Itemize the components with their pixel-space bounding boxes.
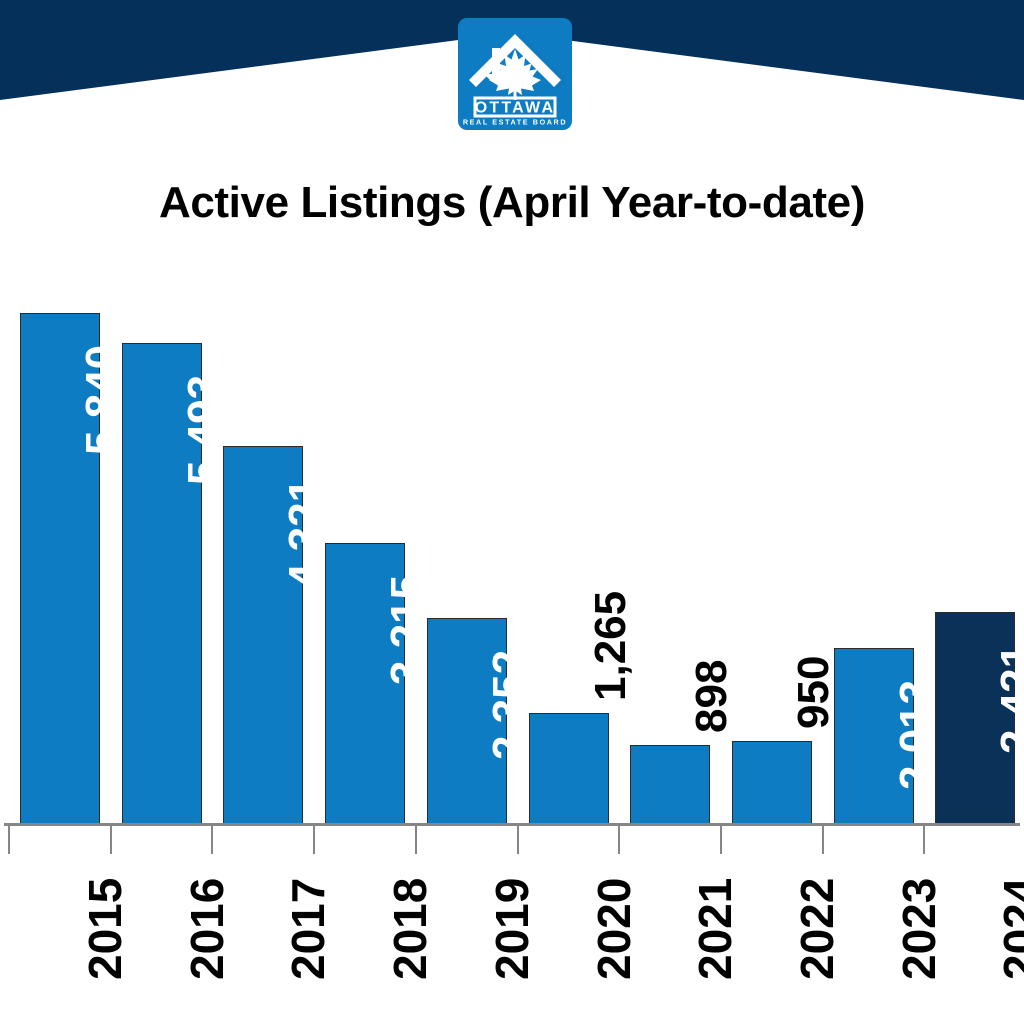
x-axis-label-2016: 2016: [180, 878, 234, 980]
x-axis-label-2024: 2024: [993, 878, 1024, 980]
bar-value-2017: 4,321: [280, 478, 330, 588]
bar-value-2022: 950: [789, 656, 839, 729]
x-axis-tick: [110, 826, 112, 854]
x-axis-label-2022: 2022: [790, 878, 844, 980]
bar-value-2023: 2,013: [891, 680, 941, 790]
x-axis-label-2019: 2019: [485, 878, 539, 980]
x-axis-tick: [8, 826, 10, 854]
x-axis-tick: [211, 826, 213, 854]
x-axis-line: [4, 823, 1020, 826]
x-axis-label-2018: 2018: [383, 878, 437, 980]
x-axis-label-2021: 2021: [688, 878, 742, 980]
bar-value-2016: 5,493: [179, 375, 229, 485]
bar-value-2015: 5,840: [77, 345, 127, 455]
x-axis-label-2023: 2023: [892, 878, 946, 980]
chart-page: OTTAWA REAL ESTATE BOARD Active Listings…: [0, 0, 1024, 1024]
bar-2021: [630, 745, 710, 824]
x-axis-tick: [822, 826, 824, 854]
x-axis-tick: [923, 826, 925, 854]
x-axis-tick: [517, 826, 519, 854]
bar-value-2019: 2,352: [484, 650, 534, 760]
x-axis-tick: [313, 826, 315, 854]
bar-value-2018: 3,215: [382, 575, 432, 685]
bar-value-2024: 2,421: [992, 644, 1024, 754]
x-axis-tick: [415, 826, 417, 854]
bar-value-2021: 898: [687, 660, 737, 733]
bar-2022: [732, 741, 812, 824]
x-axis-label-2020: 2020: [587, 878, 641, 980]
bar-chart-plot: 5,8405,4934,3213,2152,3521,2658989502,01…: [0, 0, 1024, 1024]
bar-2020: [529, 713, 609, 824]
bar-value-2020: 1,265: [586, 591, 636, 701]
x-axis-label-2015: 2015: [78, 878, 132, 980]
x-axis-tick: [720, 826, 722, 854]
x-axis-tick: [618, 826, 620, 854]
x-axis-label-2017: 2017: [281, 878, 335, 980]
